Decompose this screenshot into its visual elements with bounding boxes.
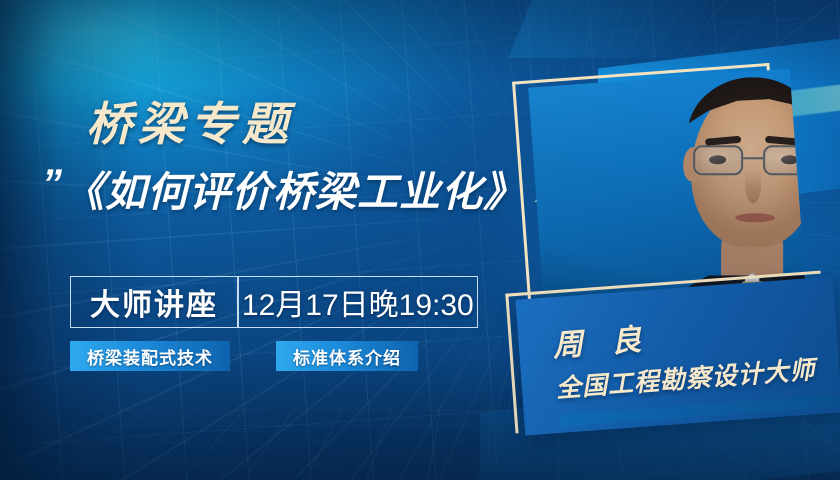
- topic-tag-list: 桥梁装配式技术 标准体系介绍: [70, 341, 418, 371]
- quote-open-icon: ”: [42, 166, 59, 202]
- lecture-poster: 桥梁专题 ” 《如何评价桥梁工业化》 ” 大师讲座 12月17日晚19:30 桥…: [0, 0, 840, 480]
- nameplate-text-group: 周 良 全国工程勘察设计大师: [551, 302, 816, 405]
- subtitle-row: ” 《如何评价桥梁工业化》 ”: [42, 172, 548, 213]
- lecture-info-box: 大师讲座 12月17日晚19:30: [70, 276, 478, 328]
- topic-tag: 标准体系介绍: [276, 341, 418, 371]
- photo-shading-overlay: [528, 69, 806, 310]
- page-subtitle: 《如何评价桥梁工业化》: [63, 172, 525, 213]
- topic-tag: 桥梁装配式技术: [70, 341, 230, 371]
- page-title: 桥梁专题: [86, 101, 294, 147]
- lecture-type-label: 大师讲座: [71, 277, 237, 327]
- photo-ear-right: [805, 147, 806, 181]
- lecture-datetime: 12月17日晚19:30: [239, 277, 477, 327]
- portrait-photo-panel: [528, 69, 806, 310]
